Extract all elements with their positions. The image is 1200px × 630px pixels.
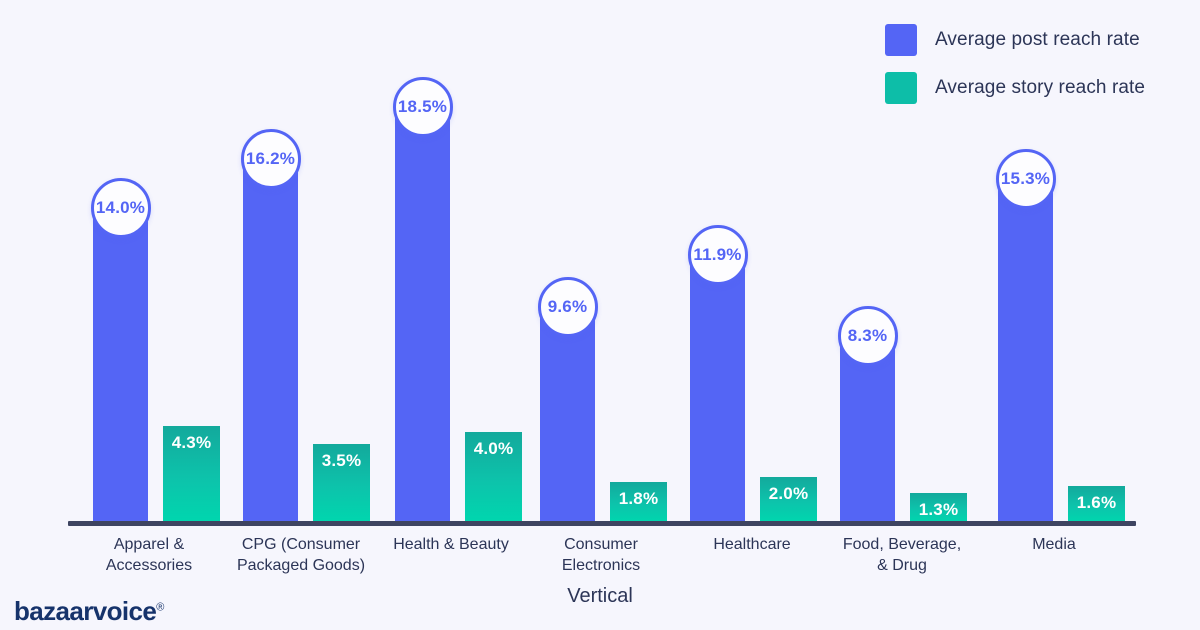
data-label-story-reach: 4.0% — [465, 439, 522, 459]
bar-post-reach[interactable] — [243, 159, 298, 522]
bar-post-reach[interactable] — [690, 255, 745, 522]
data-label-story-reach: 1.8% — [610, 489, 667, 509]
x-axis-title: Vertical — [0, 585, 1200, 608]
bar-story-reach[interactable]: 1.8% — [610, 482, 667, 522]
bazaarvoice-logo: bazaarvoice® — [14, 596, 164, 627]
legend-item-post-reach[interactable]: Average post reach rate — [885, 24, 1145, 56]
data-label-post-reach: 9.6% — [538, 277, 598, 337]
x-axis-line — [68, 521, 1136, 526]
bar-story-reach[interactable]: 4.3% — [163, 426, 220, 522]
bar-story-reach[interactable]: 3.5% — [313, 444, 370, 522]
bar-story-reach[interactable]: 1.6% — [1068, 486, 1125, 522]
data-label-story-reach: 4.3% — [163, 433, 220, 453]
data-label-post-reach: 14.0% — [91, 178, 151, 238]
legend-label-post-reach: Average post reach rate — [935, 29, 1140, 51]
x-axis-tick-label: Media — [964, 534, 1144, 555]
data-label-post-reach: 18.5% — [393, 77, 453, 137]
plot-area: 14.0%4.3%16.2%3.5%18.5%4.0%9.6%1.8%11.9%… — [68, 60, 1136, 522]
bar-story-reach[interactable]: 4.0% — [465, 432, 522, 522]
data-label-story-reach: 3.5% — [313, 451, 370, 471]
data-label-story-reach: 1.3% — [910, 500, 967, 520]
bar-post-reach[interactable] — [93, 208, 148, 522]
legend-swatch-post-reach — [885, 24, 917, 56]
data-label-post-reach: 8.3% — [838, 306, 898, 366]
chart-container: Average post reach rate Average story re… — [0, 0, 1200, 630]
data-label-story-reach: 2.0% — [760, 484, 817, 504]
bar-post-reach[interactable] — [395, 107, 450, 522]
logo-text: bazaarvoice — [14, 596, 156, 626]
bar-post-reach[interactable] — [540, 307, 595, 522]
data-label-post-reach: 11.9% — [688, 225, 748, 285]
data-label-post-reach: 16.2% — [241, 129, 301, 189]
data-label-post-reach: 15.3% — [996, 149, 1056, 209]
bar-story-reach[interactable]: 2.0% — [760, 477, 817, 522]
bar-post-reach[interactable] — [998, 179, 1053, 522]
data-label-story-reach: 1.6% — [1068, 493, 1125, 513]
bar-story-reach[interactable]: 1.3% — [910, 493, 967, 522]
logo-registered-mark: ® — [156, 601, 164, 613]
